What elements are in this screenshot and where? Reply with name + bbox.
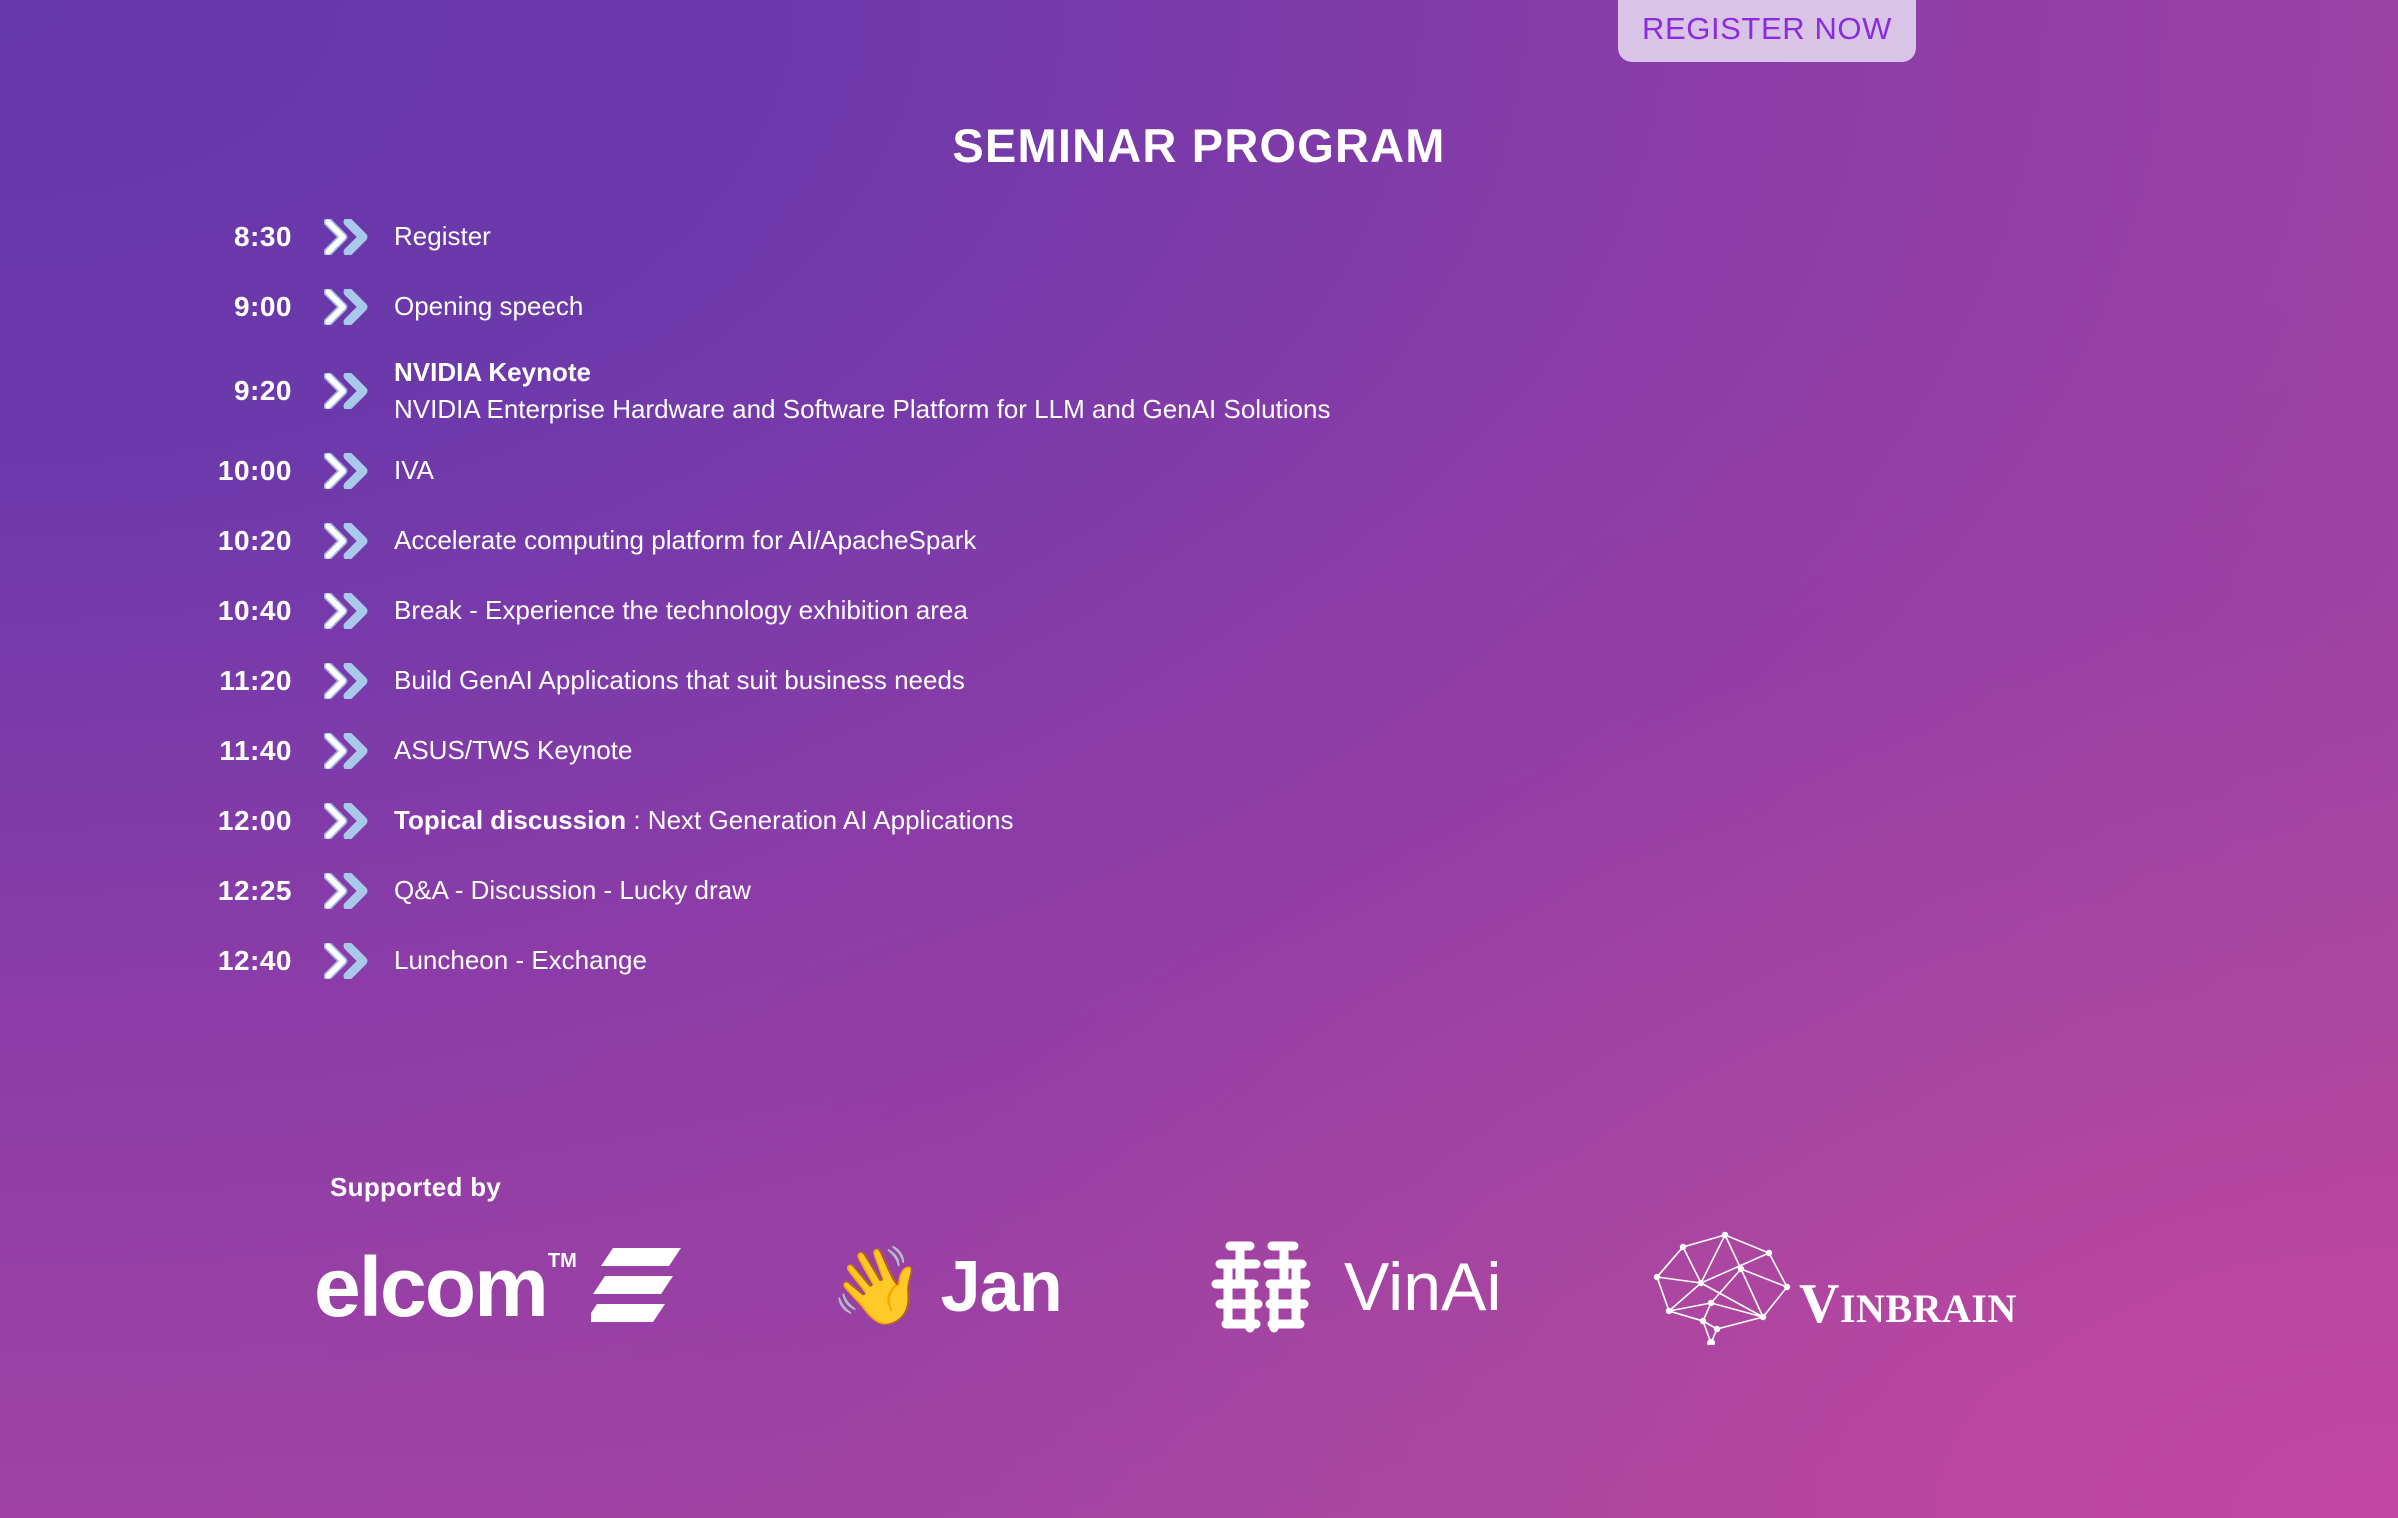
register-now-label: REGISTER NOW — [1642, 11, 1892, 47]
double-chevron-right-icon — [310, 663, 384, 699]
jan-wordmark: Jan — [941, 1251, 1062, 1323]
program-row-time: 10:00 — [0, 455, 310, 487]
double-chevron-right-icon — [310, 523, 384, 559]
program-row-time: 8:30 — [0, 221, 310, 253]
program-row-subtitle: NVIDIA Enterprise Hardware and Software … — [394, 391, 2398, 428]
program-row-title: : Next Generation AI Applications — [626, 805, 1013, 835]
program-row-title: Opening speech — [394, 291, 583, 321]
program-row-time: 12:40 — [0, 945, 310, 977]
program-row-description: NVIDIA KeynoteNVIDIA Enterprise Hardware… — [384, 354, 2398, 429]
program-row: 12:25Q&A - Discussion - Lucky draw — [0, 866, 2398, 916]
program-row-time: 10:20 — [0, 525, 310, 557]
program-row: 8:30Register — [0, 212, 2398, 262]
vinai-wordmark: VinAi — [1344, 1253, 1502, 1321]
program-row-title: Break - Experience the technology exhibi… — [394, 595, 968, 625]
program-row-time: 9:20 — [0, 375, 310, 407]
program-row-description: Q&A - Discussion - Lucky draw — [384, 872, 2398, 909]
program-row-description: Break - Experience the technology exhibi… — [384, 592, 2398, 629]
program-row: 10:00IVA — [0, 446, 2398, 496]
vinbrain-initial: V — [1799, 1273, 1840, 1335]
double-chevron-right-icon — [310, 289, 384, 325]
waving-hand-icon: 👋 — [830, 1249, 925, 1325]
program-row-title: IVA — [394, 455, 434, 485]
program-row: 10:40Break - Experience the technology e… — [0, 586, 2398, 636]
brain-network-icon — [1645, 1225, 1825, 1350]
program-row-description: IVA — [384, 452, 2398, 489]
program-row-description: ASUS/TWS Keynote — [384, 732, 2398, 769]
double-chevron-right-icon — [310, 803, 384, 839]
program-row-title: Accelerate computing platform for AI/Apa… — [394, 525, 976, 555]
elcom-logo[interactable]: elcom TM — [300, 1232, 700, 1342]
program-row-description: Opening speech — [384, 288, 2398, 325]
double-chevron-right-icon — [310, 593, 384, 629]
double-chevron-right-icon — [310, 219, 384, 255]
program-row-title: Luncheon - Exchange — [394, 945, 647, 975]
double-chevron-right-icon — [310, 733, 384, 769]
program-row-description: Accelerate computing platform for AI/Apa… — [384, 522, 2398, 559]
trademark-icon: TM — [548, 1251, 577, 1271]
program-row-description: Build GenAI Applications that suit busin… — [384, 662, 2398, 699]
vinbrain-wordmark: VINBRAIN — [1799, 1272, 2017, 1336]
program-row: 9:20NVIDIA KeynoteNVIDIA Enterprise Hard… — [0, 352, 2398, 430]
program-row: 12:40Luncheon - Exchange — [0, 936, 2398, 986]
program-row-time: 12:00 — [0, 805, 310, 837]
seminar-program-list: 8:30Register9:00Opening speech9:20NVIDIA… — [0, 212, 2398, 1006]
double-chevron-right-icon — [310, 873, 384, 909]
program-row: 11:40ASUS/TWS Keynote — [0, 726, 2398, 776]
elcom-e-mark-icon — [591, 1246, 683, 1329]
program-row-time: 12:25 — [0, 875, 310, 907]
register-now-button[interactable]: REGISTER NOW — [1618, 0, 1916, 62]
double-chevron-right-icon — [310, 943, 384, 979]
elcom-text: elcom — [314, 1240, 547, 1334]
program-row-description: Topical discussion : Next Generation AI … — [384, 802, 2398, 839]
vinai-logo[interactable]: VinAi — [1090, 1232, 1530, 1342]
vinbrain-rest: INBRAIN — [1840, 1286, 2017, 1331]
supported-by-label: Supported by — [330, 1172, 501, 1203]
program-row-time: 10:40 — [0, 595, 310, 627]
program-row-time: 11:40 — [0, 735, 310, 767]
program-row-description: Luncheon - Exchange — [384, 942, 2398, 979]
program-row-title: Build GenAI Applications that suit busin… — [394, 665, 965, 695]
program-row: 10:20Accelerate computing platform for A… — [0, 516, 2398, 566]
program-row-description: Register — [384, 218, 2398, 255]
elcom-wordmark: elcom TM — [314, 1245, 547, 1329]
program-row: 12:00Topical discussion : Next Generatio… — [0, 796, 2398, 846]
program-row-time: 9:00 — [0, 291, 310, 323]
double-chevron-right-icon — [310, 453, 384, 489]
vinbrain-logo[interactable]: VINBRAIN — [1530, 1232, 1970, 1342]
page-title: SEMINAR PROGRAM — [0, 118, 2398, 173]
double-chevron-right-icon — [310, 373, 384, 409]
vinai-symbol-icon — [1210, 1232, 1322, 1343]
jan-logo[interactable]: 👋 Jan — [700, 1232, 1090, 1342]
program-row-time: 11:20 — [0, 665, 310, 697]
program-row-lead: Topical discussion — [394, 805, 626, 835]
program-row: 11:20Build GenAI Applications that suit … — [0, 656, 2398, 706]
program-row-title: Register — [394, 221, 491, 251]
program-row-title: NVIDIA Keynote — [394, 354, 2398, 391]
program-row: 9:00Opening speech — [0, 282, 2398, 332]
program-row-title: ASUS/TWS Keynote — [394, 735, 632, 765]
program-row-title: Q&A - Discussion - Lucky draw — [394, 875, 751, 905]
supporter-logos: elcom TM 👋 Jan — [300, 1222, 2130, 1352]
